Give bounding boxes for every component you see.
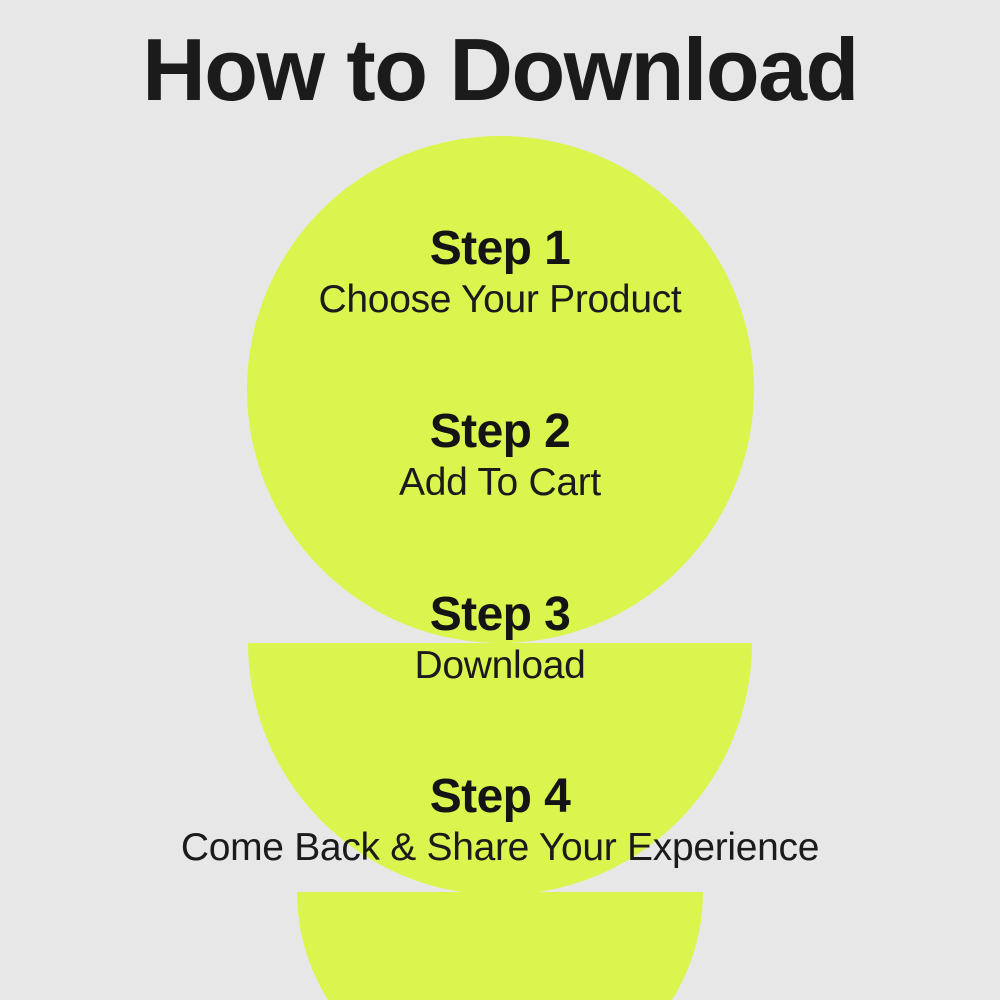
step-4-heading: Step 4: [0, 770, 1000, 824]
step-item-4: Step 4 Come Back & Share Your Experience: [0, 770, 1000, 872]
step-2-description: Add To Cart: [0, 459, 1000, 507]
step-1-description: Choose Your Product: [0, 276, 1000, 324]
step-item-3: Step 3 Download: [0, 588, 1000, 690]
step-3-heading: Step 3: [0, 588, 1000, 642]
infographic-canvas: How to Download Step 1 Choose Your Produ…: [0, 0, 1000, 1000]
step-1-heading: Step 1: [0, 222, 1000, 276]
step-item-2: Step 2 Add To Cart: [0, 405, 1000, 507]
step-2-heading: Step 2: [0, 405, 1000, 459]
page-title: How to Download: [0, 22, 1000, 118]
step-4-description: Come Back & Share Your Experience: [0, 824, 1000, 872]
step-3-description: Download: [0, 642, 1000, 690]
step-item-1: Step 1 Choose Your Product: [0, 222, 1000, 324]
text-layer: How to Download Step 1 Choose Your Produ…: [0, 0, 1000, 1000]
